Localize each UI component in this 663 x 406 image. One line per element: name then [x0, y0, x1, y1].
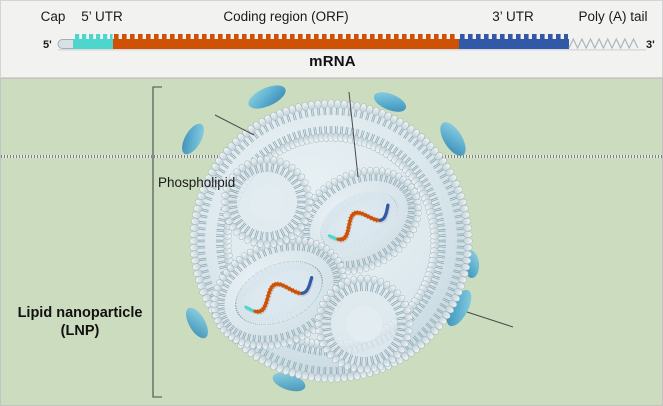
mrna-label-poly-a: Poly (A) tail: [567, 9, 659, 24]
mrna-label-orf: Coding region (ORF): [176, 9, 396, 24]
mrna-three-prime-end: 3': [646, 39, 655, 51]
mrna-label-three-utr: 3’ UTR: [473, 9, 553, 24]
lnp-bracket: [153, 87, 162, 397]
peg-leader-line: [467, 312, 513, 327]
lnp-title-line1: Lipid nanoparticle: [18, 305, 143, 321]
mrna-title: mRNA: [1, 53, 663, 70]
peg-blob: [245, 81, 289, 114]
inner-micelle: [221, 156, 313, 248]
mrna-orf-shape: [113, 34, 459, 49]
peg-blob: [182, 304, 213, 341]
label-phospholipid: Phospholipid: [158, 175, 235, 190]
lnp-title: Lipid nanoparticle (LNP): [5, 304, 155, 340]
inner-micelle: [315, 275, 413, 373]
mrna-strand-graphic: [1, 31, 663, 53]
figure-root: Cap 5’ UTR Coding region (ORF) 3’ UTR Po…: [0, 0, 663, 406]
lnp-title-line2: (LNP): [61, 323, 100, 339]
mrna-label-five-utr: 5’ UTR: [63, 9, 141, 24]
mrna-strand-shadow: [58, 49, 646, 51]
mrna-five-prime-end: 5': [43, 39, 52, 51]
lnp-illustration: [1, 79, 663, 406]
peg-blob: [178, 120, 209, 157]
mrna-three-utr-shape: [459, 34, 569, 49]
mrna-five-utr-shape: [73, 34, 113, 49]
lnp-panel: Lipid nanoparticle (LNP) Phospholipid Po…: [0, 78, 663, 406]
mrna-poly-a-shape: [569, 39, 638, 48]
mrna-panel: Cap 5’ UTR Coding region (ORF) 3’ UTR Po…: [0, 0, 663, 78]
phospholipid-leader-line: [215, 115, 254, 135]
